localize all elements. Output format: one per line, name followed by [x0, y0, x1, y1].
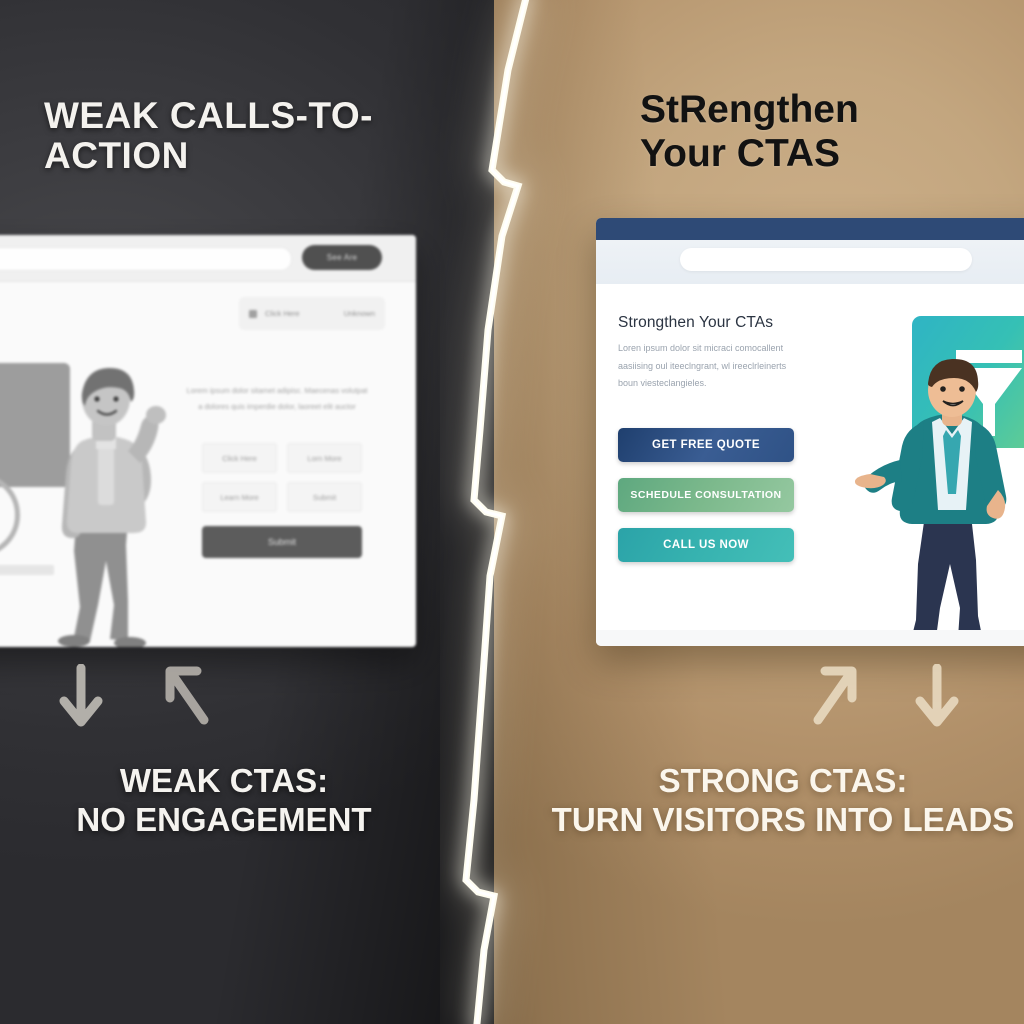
mockup-body-text: Lorem ipsum dolor sitamet adipisc. Maece… — [174, 383, 380, 415]
mockup-search-input[interactable] — [0, 247, 292, 271]
weak-cta-chip[interactable]: Lorn More — [287, 443, 362, 473]
weak-cta-chip[interactable]: Learn More — [202, 482, 277, 512]
right-panel-caption: STRONG CTAS: TURN VISITORS INTO LEADS — [548, 762, 1018, 840]
mockup-body-line-3: boun viesteclangieles. — [618, 375, 854, 393]
arrow-up-left-icon — [160, 662, 212, 726]
mockup-body-text: Loren ipsum dolor sit micraci comocallen… — [618, 340, 854, 393]
mockup-footer-bar — [0, 565, 54, 575]
toolbar-label-secondary: Unknown — [344, 309, 375, 318]
left-panel-caption: WEAK CTAS: NO ENGAGEMENT — [0, 762, 448, 840]
arrow-down-icon — [56, 664, 106, 730]
weak-cta-chip[interactable]: Submit — [287, 482, 362, 512]
right-caption-line-1: STRONG CTAS: — [659, 762, 908, 799]
right-panel-heading: StRengthen Your CTAS — [640, 88, 1020, 175]
strong-cta-website-mockup: Soep Strongthen Your CTAs Loren ipsum do… — [596, 218, 1024, 646]
confused-person-illustration — [44, 355, 174, 647]
left-panel-heading: WEAK CALLS-TO-ACTION — [44, 96, 474, 176]
mockup-toolbar: Click Here Unknown — [239, 297, 385, 330]
weak-cta-chip[interactable]: Click Here — [202, 443, 277, 473]
weak-cta-chip-group: Click Here Lorn More Learn More Submit — [202, 443, 362, 512]
mockup-browser-header — [596, 218, 1024, 240]
mockup-body-line-2: a dolores quis imperdie dolor, laoreet e… — [174, 399, 380, 415]
weak-submit-button[interactable]: Submit — [202, 526, 362, 558]
businessman-pointing-illustration — [854, 358, 1024, 646]
mockup-top-pill-button[interactable]: See Are — [302, 245, 382, 270]
mockup-body-line-1: Lorem ipsum dolor sitamet adipisc. Maece… — [174, 383, 380, 399]
arrow-down-icon — [912, 664, 962, 730]
toolbar-square-icon — [249, 310, 257, 318]
weak-cta-website-mockup: See Are Click Here Unknown Lorem ipsum d… — [0, 235, 416, 647]
mockup-body-line-2: aasiising oul iteeclngrant, wl ireeclrle… — [618, 358, 854, 376]
strong-cta-group: GET FREE QUOTE SCHEDULE CONSULTATION CAL… — [618, 428, 794, 578]
right-heading-line-1: StRengthen — [640, 88, 859, 131]
get-free-quote-button[interactable]: GET FREE QUOTE — [618, 428, 794, 462]
arrow-up-right-icon — [810, 662, 862, 726]
mockup-section-heading: Strongthen Your CTAs — [618, 314, 773, 332]
mockup-body-line-1: Loren ipsum dolor sit micraci comocallen… — [618, 340, 854, 358]
call-us-now-button[interactable]: CALL US NOW — [618, 528, 794, 562]
left-caption-line-2: NO ENGAGEMENT — [0, 801, 448, 840]
left-caption-line-1: WEAK CTAS: — [120, 762, 328, 799]
mockup-footer-bar — [596, 630, 1024, 646]
right-caption-line-2: TURN VISITORS INTO LEADS — [548, 801, 1018, 840]
comparison-infographic: See Are Click Here Unknown Lorem ipsum d… — [0, 0, 1024, 1024]
schedule-consultation-button[interactable]: SCHEDULE CONSULTATION — [618, 478, 794, 512]
toolbar-label: Click Here — [265, 309, 300, 318]
mockup-search-input[interactable] — [680, 248, 972, 271]
right-heading-line-2: Your CTAS — [640, 132, 1020, 176]
